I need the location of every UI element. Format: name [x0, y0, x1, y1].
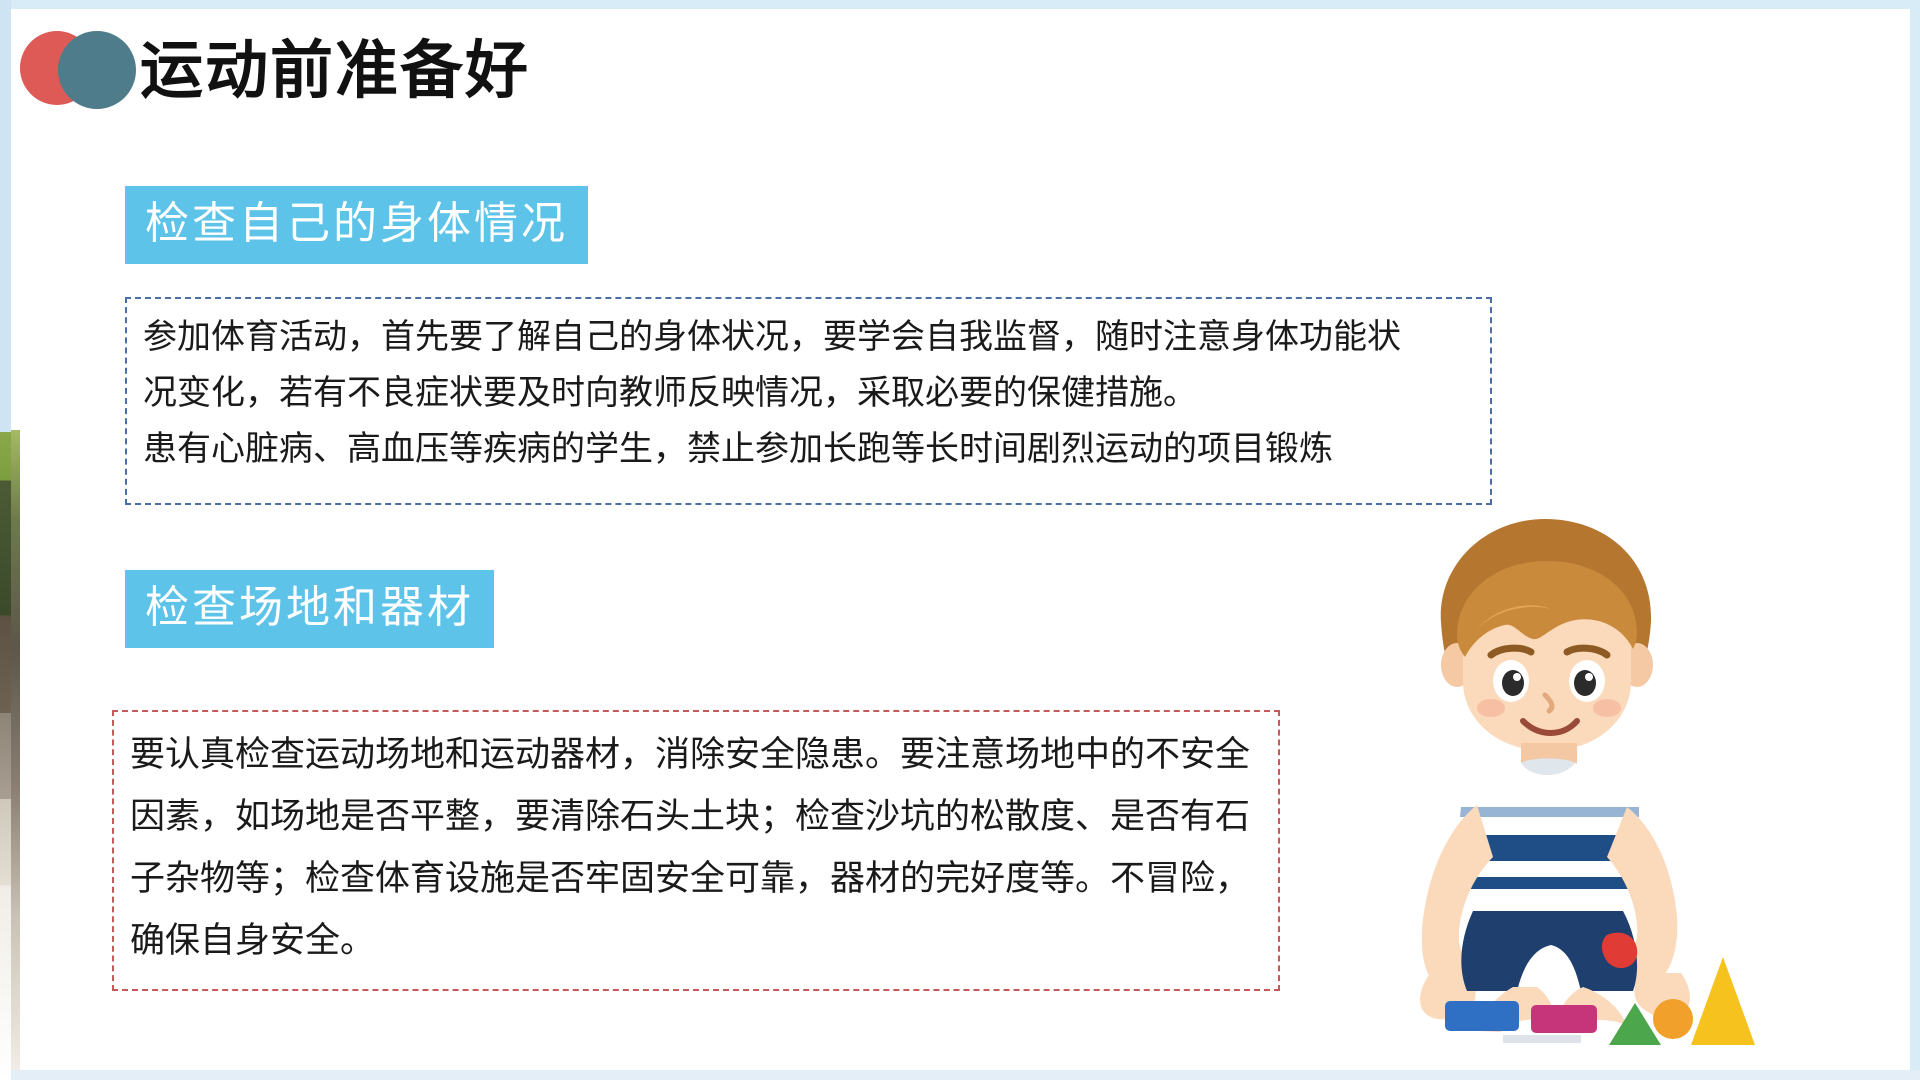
- text-line: 因素，如场地是否平整，要清除石头土块；检查沙坑的松散度、是否有石: [130, 786, 1265, 848]
- content-box-body-check: 参加体育活动，首先要了解自己的身体状况，要学会自我监督，随时注意身体功能状 况变…: [125, 297, 1492, 505]
- text-line: 要认真检查运动场地和运动器材，消除安全隐患。要注意场地中的不安全: [130, 724, 1265, 786]
- logo-teal-circle: [58, 31, 136, 109]
- page-title: 运动前准备好: [140, 39, 530, 102]
- decorative-left-edge-strip: [0, 0, 11, 1080]
- section-header-venue-check: 检查场地和器材: [125, 570, 494, 648]
- slide-border-bottom: [0, 1070, 1920, 1080]
- text-line: 子杂物等；检查体育设施是否牢固安全可靠，器材的完好度等。不冒险，: [130, 848, 1265, 910]
- content-box-venue-check: 要认真检查运动场地和运动器材，消除安全隐患。要注意场地中的不安全 因素，如场地是…: [112, 710, 1280, 991]
- two-circles-logo: [20, 27, 136, 113]
- slide-canvas: 运动前准备好 检查自己的身体情况 参加体育活动，首先要了解自己的身体状况，要学会…: [0, 0, 1920, 1080]
- slide-title-row: 运动前准备好: [20, 20, 820, 120]
- text-line: 况变化，若有不良症状要及时向教师反映情况，采取必要的保健措施。: [143, 365, 1473, 421]
- paragraph-venue-check: 要认真检查运动场地和运动器材，消除安全隐患。要注意场地中的不安全 因素，如场地是…: [130, 724, 1265, 972]
- slide-border-right: [1910, 0, 1920, 1080]
- slide-border-top: [0, 0, 1920, 9]
- text-line: 确保自身安全。: [130, 910, 1265, 972]
- section-header-body-check: 检查自己的身体情况: [125, 186, 588, 264]
- boy-playing-with-blocks-illustration: [1345, 505, 1765, 1045]
- text-line: 参加体育活动，首先要了解自己的身体状况，要学会自我监督，随时注意身体功能状: [143, 309, 1473, 365]
- decorative-left-edge-strip-inner: [11, 430, 20, 1070]
- paragraph-body-check: 参加体育活动，首先要了解自己的身体状况，要学会自我监督，随时注意身体功能状 况变…: [143, 309, 1473, 477]
- text-line: 患有心脏病、高血压等疾病的学生，禁止参加长跑等长时间剧烈运动的项目锻炼: [143, 421, 1473, 477]
